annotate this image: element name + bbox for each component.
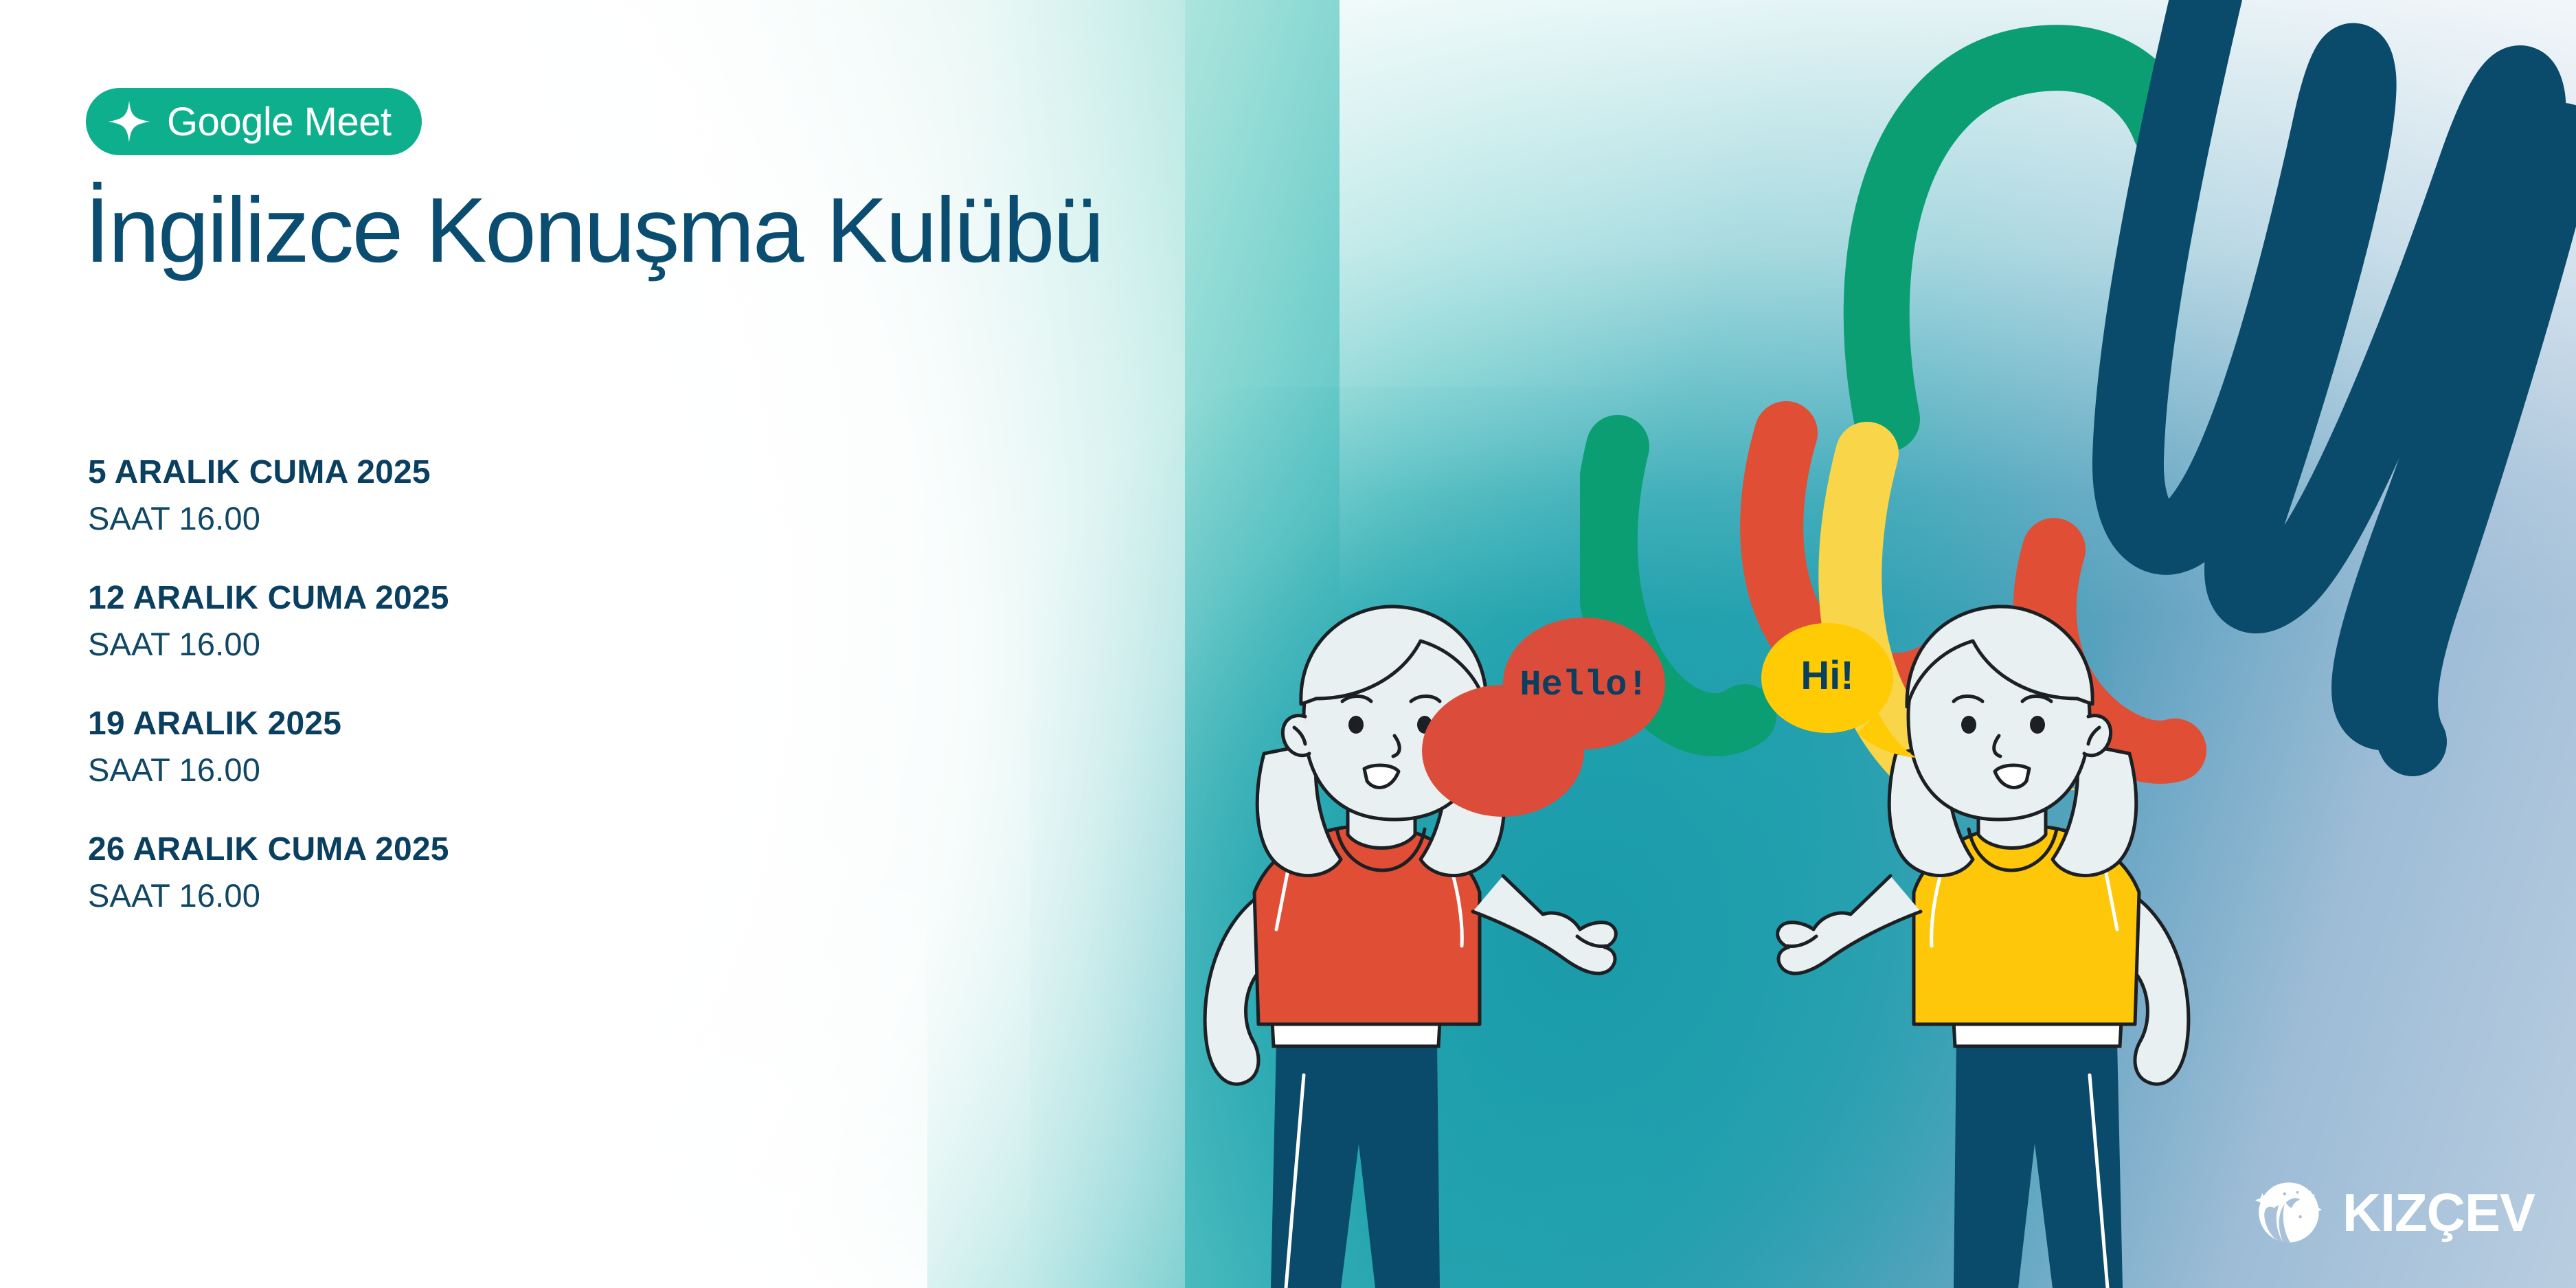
session-item: 12 ARALIK CUMA 2025 SAAT 16.00 <box>88 579 844 666</box>
session-list: 5 ARALIK CUMA 2025 SAAT 16.00 12 ARALIK … <box>88 453 844 917</box>
sparkle-icon <box>106 99 152 144</box>
google-meet-label: Google Meet <box>167 99 392 145</box>
session-date: 12 ARALIK CUMA 2025 <box>88 579 844 618</box>
poster-canvas: Google Meet İngilizce Konuşma Kulübü 5 A… <box>0 0 2576 1288</box>
session-item: 5 ARALIK CUMA 2025 SAAT 16.00 <box>88 453 844 540</box>
kizcev-moon-girl-icon <box>2253 1177 2325 1248</box>
session-time: SAAT 16.00 <box>88 748 844 791</box>
kizcev-logo[interactable]: KIZÇEV <box>2253 1177 2535 1248</box>
session-date: 26 ARALIK CUMA 2025 <box>88 831 844 870</box>
session-item: 19 ARALIK 2025 SAAT 16.00 <box>88 705 844 791</box>
session-time: SAAT 16.00 <box>88 622 844 666</box>
page-title: İngilizce Konuşma Kulübü <box>84 182 1103 280</box>
session-date: 5 ARALIK CUMA 2025 <box>88 453 844 493</box>
session-time: SAAT 16.00 <box>88 497 844 540</box>
meet-product-text: Meet <box>304 100 392 144</box>
session-item: 26 ARALIK CUMA 2025 SAAT 16.00 <box>88 831 844 917</box>
google-meet-badge[interactable]: Google Meet <box>86 88 422 155</box>
session-date: 19 ARALIK 2025 <box>88 705 844 744</box>
background-top-fade <box>1340 0 2576 618</box>
google-brand-text: Google <box>167 100 293 144</box>
session-time: SAAT 16.00 <box>88 874 844 917</box>
kizcev-wordmark: KIZÇEV <box>2342 1186 2535 1239</box>
